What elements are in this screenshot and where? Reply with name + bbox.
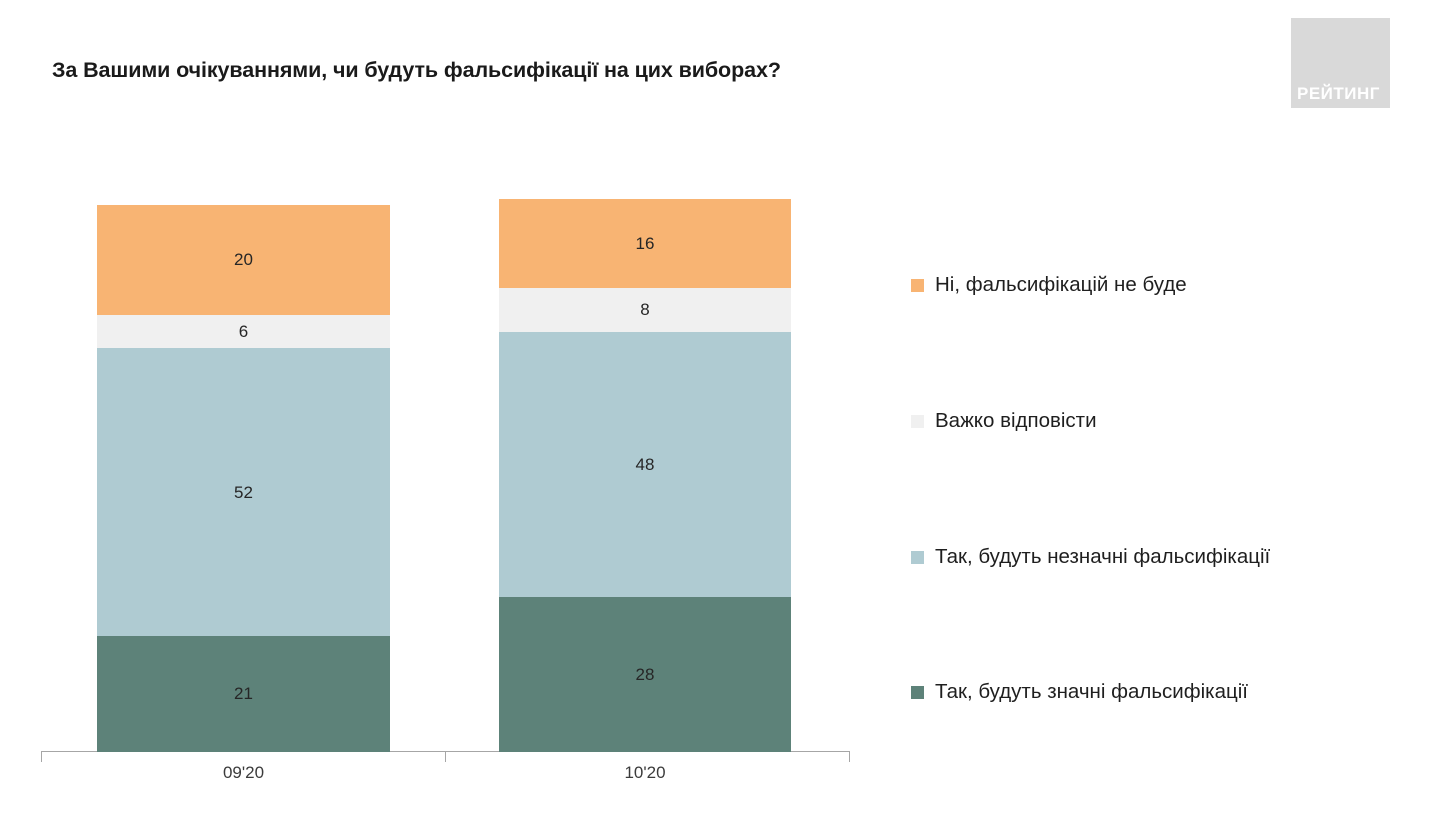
x-axis-label-0: 09'20 [144, 763, 344, 783]
legend-item-label: Так, будуть незначні фальсифікації [935, 547, 1270, 568]
bar-value-label: 21 [234, 685, 253, 702]
legend-item-no-falsification[interactable]: Ні, фальсифікацій не буде [911, 275, 1187, 296]
legend-item-significant-falsification[interactable]: Так, будуть значні фальсифікації [911, 682, 1248, 703]
bar-segment-0-hard-to-answer[interactable]: 6 [97, 315, 390, 348]
legend-item-label: Ні, фальсифікацій не буде [935, 275, 1187, 296]
bar-value-label: 52 [234, 484, 253, 501]
x-axis-tick-start [41, 752, 42, 762]
legend-swatch-icon [911, 551, 924, 564]
x-axis-tick-end [849, 752, 850, 762]
x-axis-tick-middle [445, 752, 446, 762]
bar-segment-1-hard-to-answer[interactable]: 8 [499, 288, 791, 332]
legend-item-label: Так, будуть значні фальсифікації [935, 682, 1248, 703]
x-axis-label-1: 10'20 [545, 763, 745, 783]
stacked-bar-1[interactable]: 28 48 8 16 [499, 199, 791, 752]
legend-swatch-icon [911, 279, 924, 292]
bar-segment-0-minor[interactable]: 52 [97, 348, 390, 636]
legend-item-hard-to-answer[interactable]: Важко відповісти [911, 411, 1097, 432]
bar-value-label: 20 [234, 251, 253, 268]
bar-value-label: 6 [239, 323, 248, 340]
bar-segment-1-significant[interactable]: 28 [499, 597, 791, 752]
bar-segment-1-minor[interactable]: 48 [499, 332, 791, 597]
stacked-bar-0[interactable]: 21 52 6 20 [97, 199, 390, 752]
bar-value-label: 48 [636, 456, 655, 473]
legend-item-label: Важко відповісти [935, 411, 1097, 432]
bar-value-label: 16 [636, 235, 655, 252]
legend-swatch-icon [911, 415, 924, 428]
bar-segment-0-no[interactable]: 20 [97, 205, 390, 316]
legend-swatch-icon [911, 686, 924, 699]
bar-segment-1-no[interactable]: 16 [499, 199, 791, 287]
bar-group-1[interactable]: 28 48 8 16 [499, 199, 791, 752]
bar-segment-0-significant[interactable]: 21 [97, 636, 390, 752]
bar-group-0[interactable]: 21 52 6 20 [97, 199, 390, 752]
bar-value-label: 28 [636, 666, 655, 683]
legend-item-minor-falsification[interactable]: Так, будуть незначні фальсифікації [911, 547, 1270, 568]
bar-value-label: 8 [640, 301, 649, 318]
